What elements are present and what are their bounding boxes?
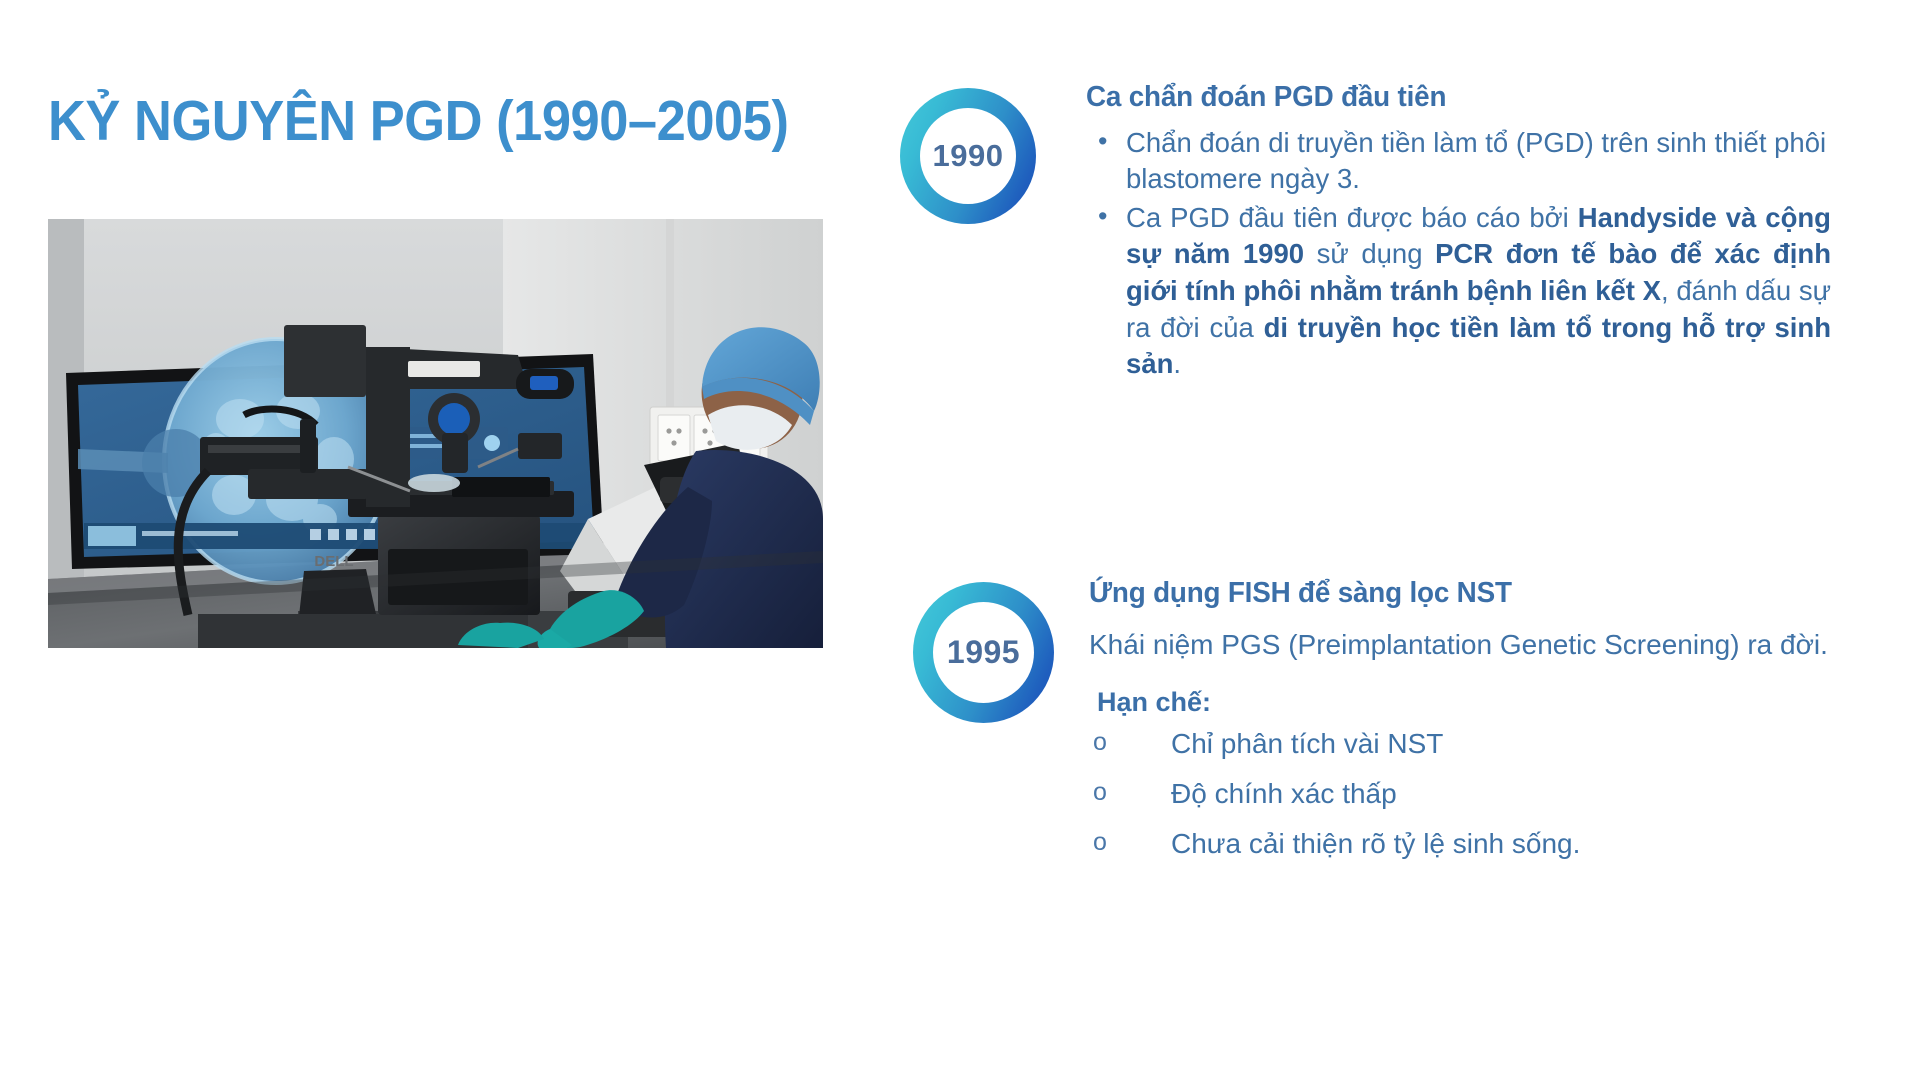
list-item: Chưa cải thiện rõ tỷ lệ sinh sống. (1089, 830, 1863, 858)
entry-heading: Ứng dụng FISH để sàng lọc NST (1089, 576, 1832, 611)
year-label: 1995 (947, 634, 1020, 671)
entry-heading: Ca chẩn đoán PGD đầu tiên (1086, 80, 1819, 115)
year-badge-1995: 1995 (913, 582, 1054, 723)
limitations-list: Chỉ phân tích vài NST Độ chính xác thấp … (1089, 730, 1863, 858)
list-item: Chỉ phân tích vài NST (1089, 730, 1863, 758)
timeline-entry-1995: 1995 Ứng dụng FISH để sàng lọc NST Khái … (913, 576, 1863, 880)
bullet-item: Ca PGD đầu tiên được báo cáo bởi Handysi… (1086, 200, 1831, 383)
entry-body: Ca chẩn đoán PGD đầu tiên Chẩn đoán di t… (1086, 80, 1850, 383)
timeline-entry-1990: 1990 Ca chẩn đoán PGD đầu tiên Chẩn đoán… (900, 80, 1850, 385)
monitor-brand: DELL (314, 553, 353, 570)
limitations-heading: Hạn chế: (1097, 687, 1863, 718)
lab-photo: DELL (48, 219, 823, 648)
entry-paragraph: Khái niệm PGS (Preimplantation Genetic S… (1089, 621, 1849, 669)
rich-bullet-content: Ca PGD đầu tiên được báo cáo bởi Handysi… (1126, 202, 1831, 379)
body-text: Ca PGD đầu tiên được báo cáo bởi (1126, 202, 1578, 233)
year-label: 1990 (933, 138, 1004, 174)
bullet-list: Chẩn đoán di truyền tiền làm tổ (PGD) tr… (1086, 125, 1831, 383)
page-title: KỶ NGUYÊN PGD (1990–2005) (48, 88, 788, 154)
list-item: Độ chính xác thấp (1089, 780, 1863, 808)
year-badge-1990: 1990 (900, 88, 1036, 224)
bullet-item: Chẩn đoán di truyền tiền làm tổ (PGD) tr… (1086, 125, 1831, 198)
slide-root: KỶ NGUYÊN PGD (1990–2005) (0, 0, 1920, 1080)
entry-body: Ứng dụng FISH để sàng lọc NST Khái niệm … (1089, 576, 1863, 858)
body-text: sử dụng (1304, 238, 1435, 269)
body-text: . (1173, 348, 1181, 379)
lab-photo-illustration: DELL (48, 219, 823, 648)
